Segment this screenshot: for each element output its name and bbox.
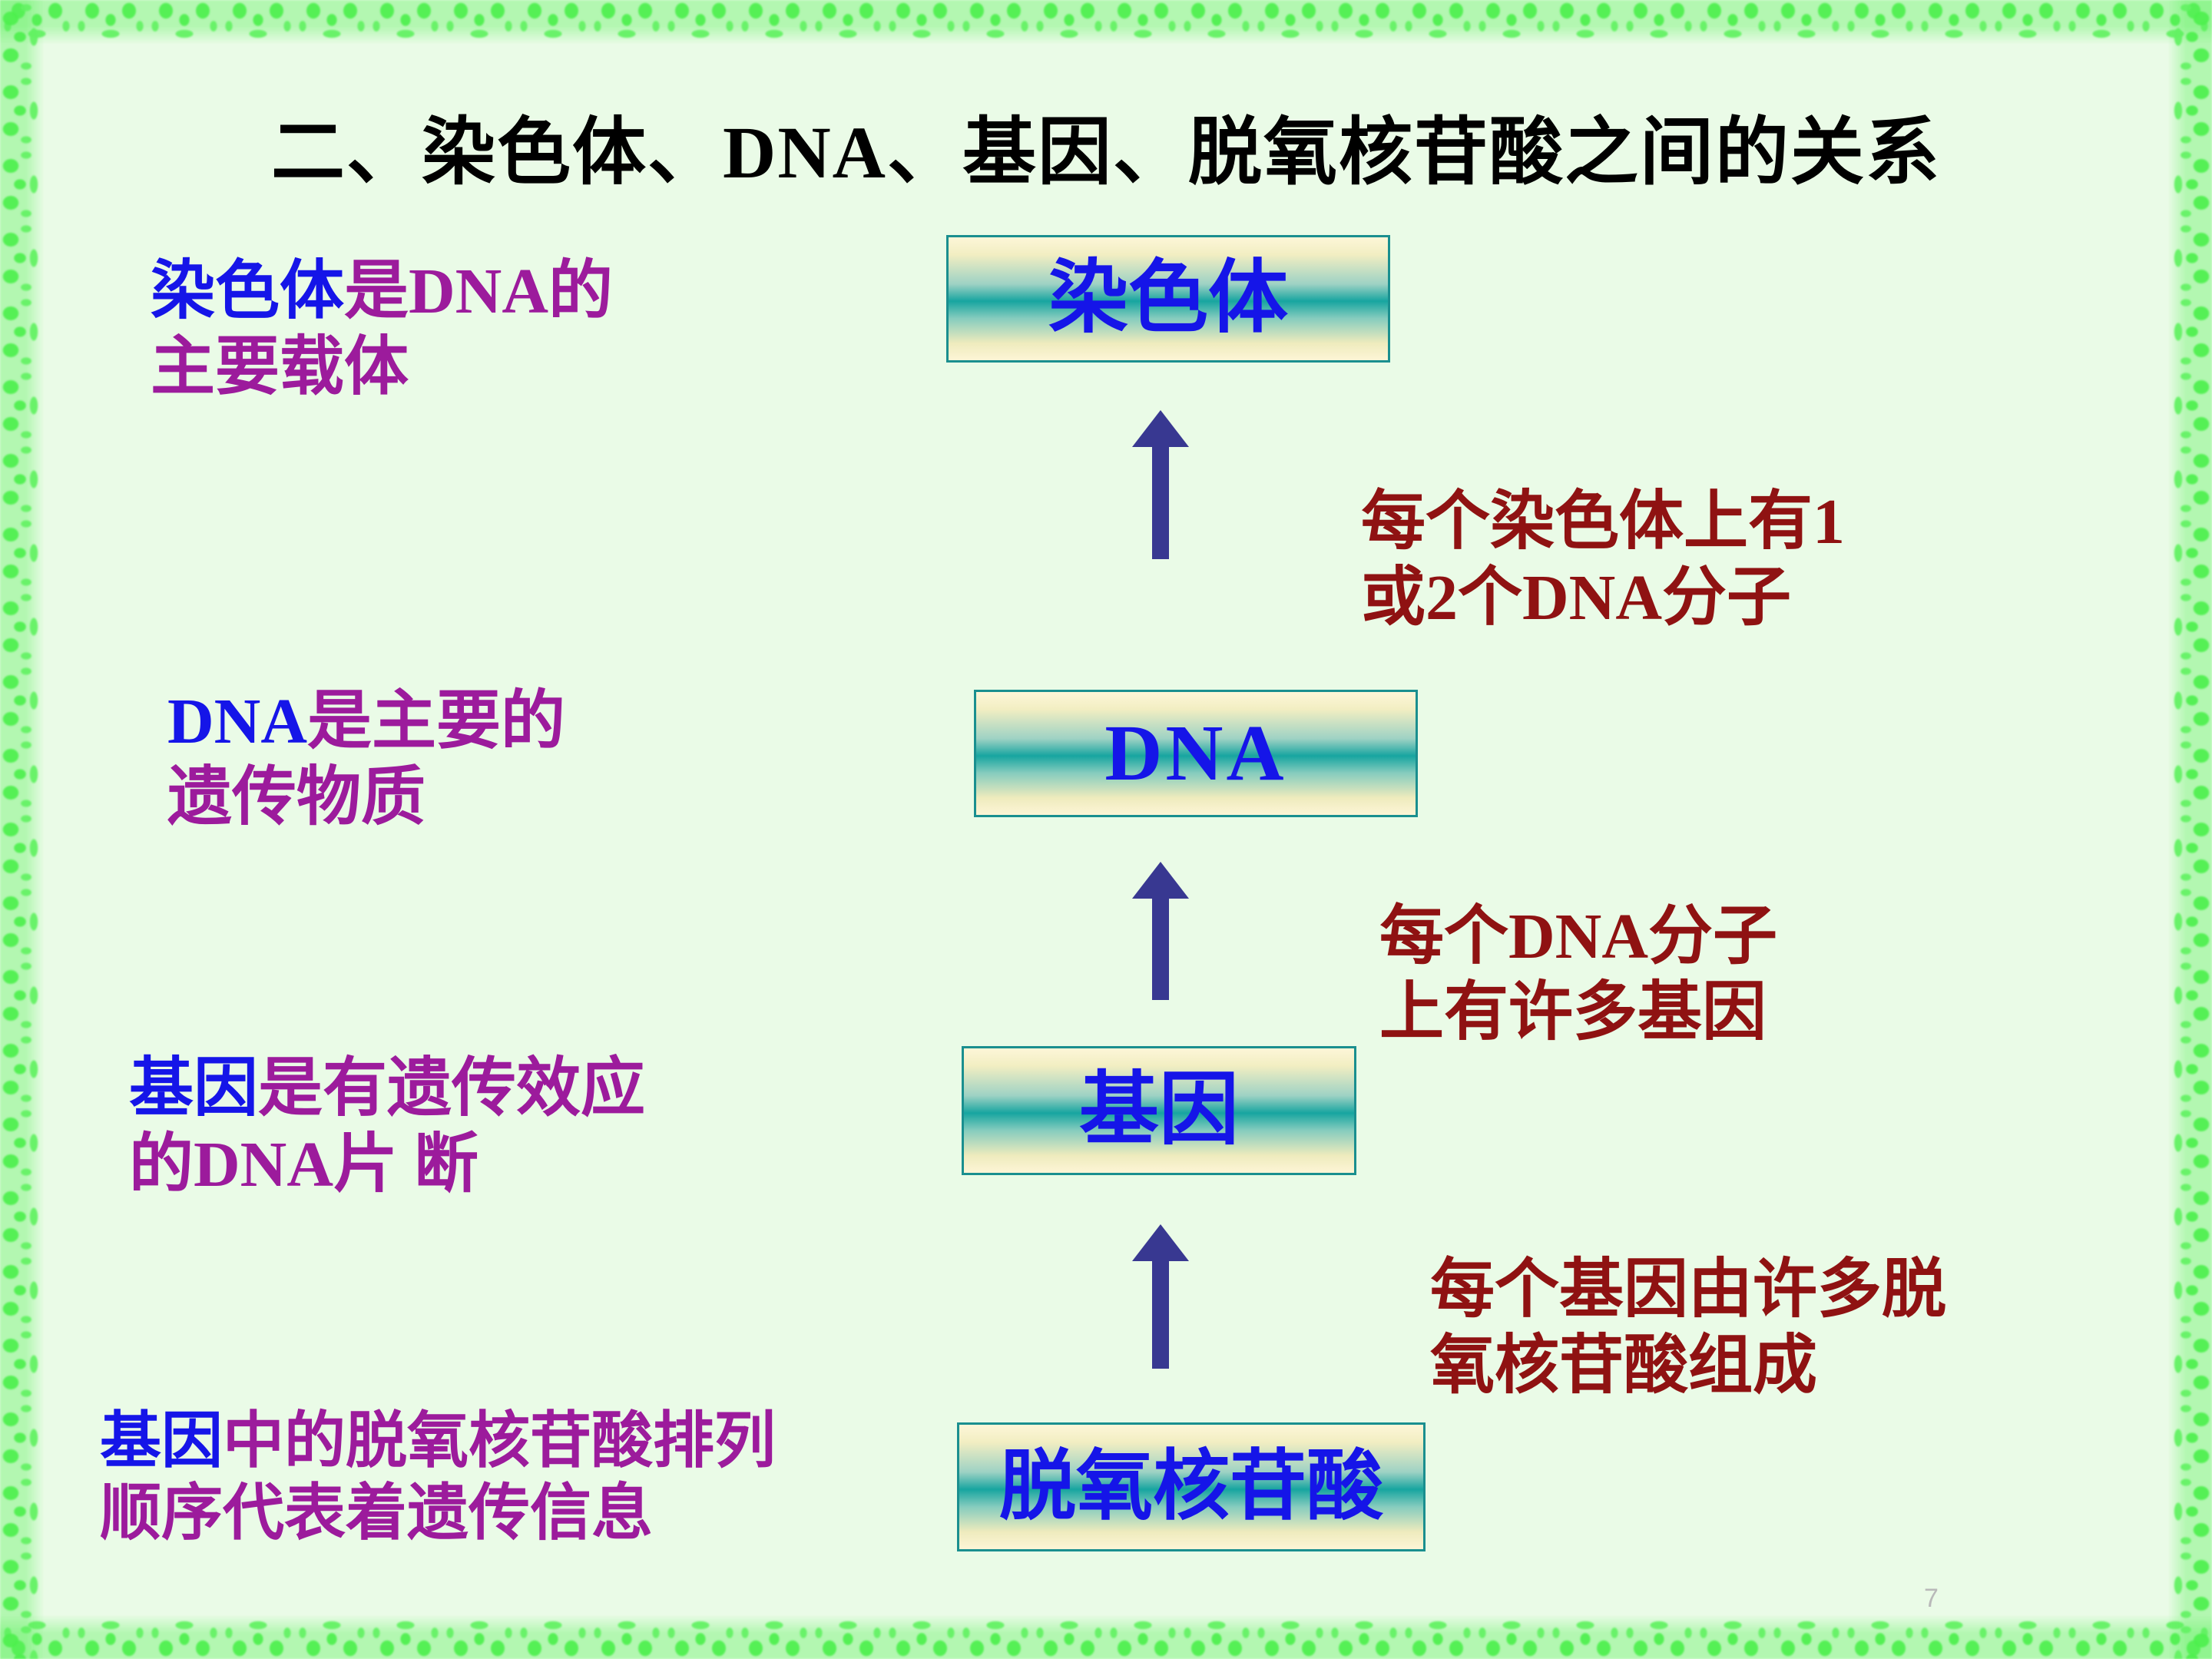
note-chromosome-dna-count: 每个染色体上有1 或2个DNA分子 bbox=[1361, 484, 1845, 636]
arrow-head-icon bbox=[1132, 862, 1189, 899]
ornamental-border-left bbox=[0, 0, 48, 1659]
note-dna-gene-count: 每个DNA分子 上有许多基因 bbox=[1379, 899, 1777, 1051]
node-label-dna: DNA bbox=[1104, 714, 1286, 793]
note-dna: DNA是主要的 遗传物质 bbox=[167, 684, 565, 836]
note-gene-nucleotide-count: 每个基因由许多脱 氧核苷酸组成 bbox=[1430, 1252, 1946, 1404]
arrow-shaft bbox=[1152, 899, 1169, 1000]
note-nucleotide-highlight: 基因 bbox=[100, 1408, 223, 1475]
arrow-head-icon bbox=[1132, 410, 1189, 447]
node-box-chromosome[interactable]: 染色体 bbox=[946, 235, 1390, 363]
node-box-nucleotide[interactable]: 脱氧核苷酸 bbox=[957, 1422, 1426, 1551]
note-gene: 基因是有遗传效应 的DNA片 断 bbox=[129, 1051, 645, 1203]
arrow-head-icon bbox=[1132, 1224, 1189, 1261]
note-dna-highlight: DNA bbox=[167, 686, 307, 757]
page-number: 7 bbox=[1924, 1584, 1939, 1614]
ornamental-border-bottom bbox=[0, 1611, 2212, 1659]
note-nucleotide: 基因中的脱氧核苷酸排列 顺序代表着遗传信息 bbox=[100, 1406, 776, 1551]
node-box-gene[interactable]: 基因 bbox=[962, 1046, 1356, 1175]
arrow-shaft bbox=[1152, 447, 1169, 559]
note-chromosome: 染色体是DNA的 主要载体 bbox=[151, 253, 613, 406]
node-box-dna[interactable]: DNA bbox=[974, 690, 1418, 817]
note-chromosome-highlight: 染色体 bbox=[151, 256, 344, 327]
node-label-gene: 基因 bbox=[1079, 1071, 1239, 1151]
up-arrow-nucleotide-to-gene bbox=[1132, 1224, 1189, 1369]
arrow-shaft bbox=[1152, 1261, 1169, 1369]
note-gene-highlight: 基因 bbox=[129, 1053, 258, 1124]
ornamental-border-right bbox=[2164, 0, 2212, 1659]
slide-title: 二、染色体、DNA、基因、脱氧核苷酸之间的关系 bbox=[0, 92, 2212, 199]
node-label-chromosome: 染色体 bbox=[1048, 259, 1288, 339]
node-label-nucleotide: 脱氧核苷酸 bbox=[999, 1449, 1383, 1525]
slide-canvas: 二、染色体、DNA、基因、脱氧核苷酸之间的关系 染色体 DNA 基因 脱氧核苷酸… bbox=[0, 0, 2212, 1659]
up-arrow-dna-to-chromosome bbox=[1132, 410, 1189, 559]
ornamental-border-top bbox=[0, 0, 2212, 48]
up-arrow-gene-to-dna bbox=[1132, 862, 1189, 1000]
